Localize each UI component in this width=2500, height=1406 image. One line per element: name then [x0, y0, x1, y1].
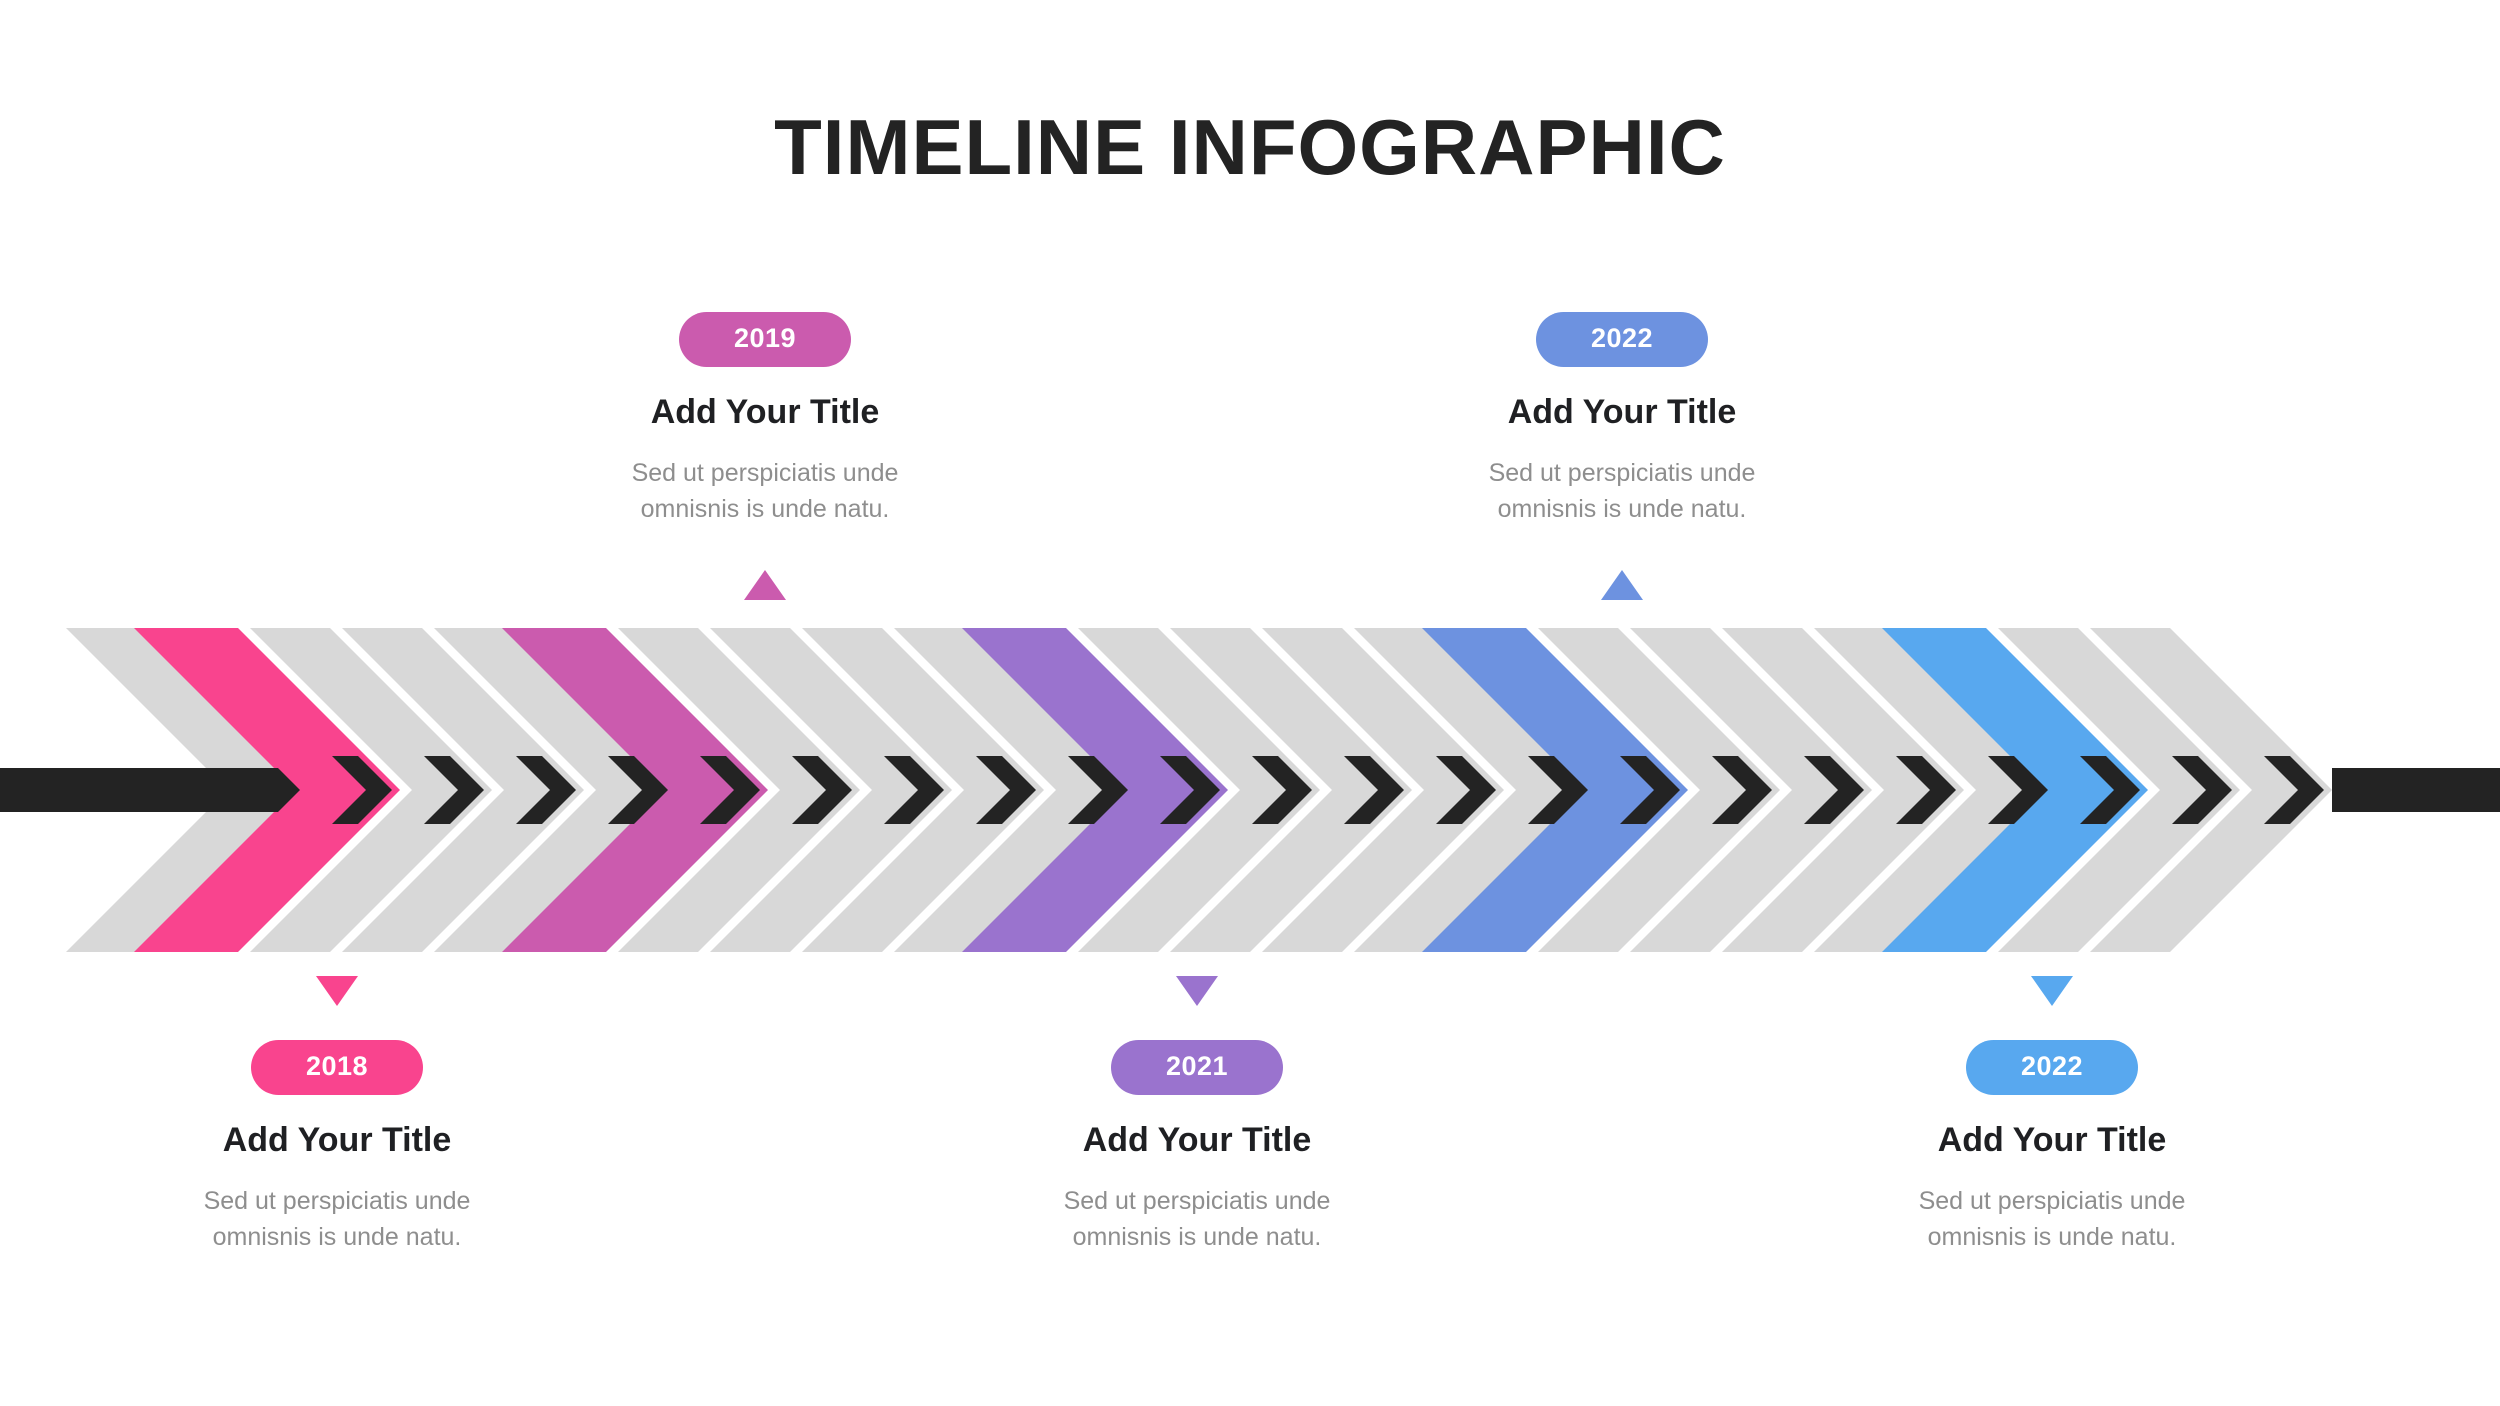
milestone-title: Add Your Title [987, 1123, 1407, 1157]
year-badge[interactable]: 2018 [251, 1040, 423, 1095]
year-badge[interactable]: 2022 [1536, 312, 1708, 367]
milestone-description-line-1: Sed ut perspiciatis unde [987, 1183, 1407, 1219]
year-badge[interactable]: 2021 [1111, 1040, 1283, 1095]
milestone-title: Add Your Title [555, 395, 975, 429]
milestone-2022-bottom: 2022Add Your TitleSed ut perspiciatis un… [1842, 1040, 2262, 1256]
milestone-description-line-2: omnisnis is unde natu. [127, 1219, 547, 1255]
milestone-title: Add Your Title [127, 1123, 547, 1157]
milestone-description-line-2: omnisnis is unde natu. [987, 1219, 1407, 1255]
milestone-description-line-1: Sed ut perspiciatis unde [127, 1183, 547, 1219]
triangle-down-icon [1176, 976, 1218, 1006]
year-badge[interactable]: 2022 [1966, 1040, 2138, 1095]
milestone-description: Sed ut perspiciatis undeomnisnis is unde… [1842, 1183, 2262, 1256]
year-badge[interactable]: 2019 [679, 312, 851, 367]
infographic-canvas: TIMELINE INFOGRAPHIC 2018Add Your TitleS… [0, 0, 2500, 1406]
milestone-description-line-1: Sed ut perspiciatis unde [1412, 455, 1832, 491]
triangle-down-icon [2031, 976, 2073, 1006]
triangle-up-icon [744, 570, 786, 600]
milestone-description-line-2: omnisnis is unde natu. [1412, 491, 1832, 527]
milestone-description: Sed ut perspiciatis undeomnisnis is unde… [987, 1183, 1407, 1256]
milestone-2018: 2018Add Your TitleSed ut perspiciatis un… [127, 1040, 547, 1256]
triangle-down-icon [316, 976, 358, 1006]
milestone-description-line-2: omnisnis is unde natu. [555, 491, 975, 527]
milestone-title: Add Your Title [1842, 1123, 2262, 1157]
milestone-description: Sed ut perspiciatis undeomnisnis is unde… [1412, 455, 1832, 528]
milestone-2019: 2019Add Your TitleSed ut perspiciatis un… [555, 312, 975, 528]
milestone-title: Add Your Title [1412, 395, 1832, 429]
dark-bar-segment [0, 768, 300, 812]
milestone-2022-top: 2022Add Your TitleSed ut perspiciatis un… [1412, 312, 1832, 528]
dark-bar-tail [2332, 768, 2500, 812]
milestone-description-line-2: omnisnis is unde natu. [1842, 1219, 2262, 1255]
milestone-description-line-1: Sed ut perspiciatis unde [1842, 1183, 2262, 1219]
milestone-description-line-1: Sed ut perspiciatis unde [555, 455, 975, 491]
milestone-description: Sed ut perspiciatis undeomnisnis is unde… [555, 455, 975, 528]
milestone-2021: 2021Add Your TitleSed ut perspiciatis un… [987, 1040, 1407, 1256]
milestone-description: Sed ut perspiciatis undeomnisnis is unde… [127, 1183, 547, 1256]
triangle-up-icon [1601, 570, 1643, 600]
